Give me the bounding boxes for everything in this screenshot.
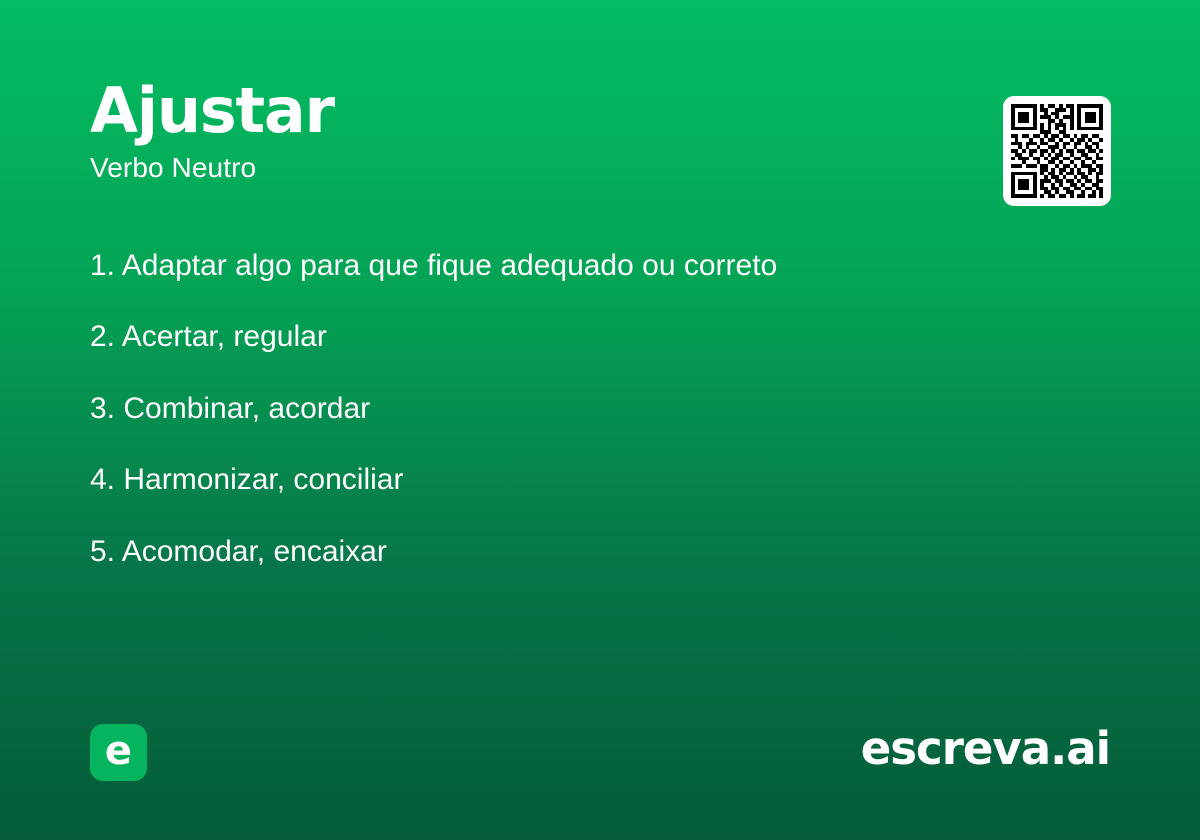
definition-item: 3. Combinar, acordar <box>90 391 1070 426</box>
definition-text: Harmonizar, conciliar <box>115 463 403 496</box>
word-class-label: Verbo Neutro <box>90 151 950 185</box>
definition-index: 5. <box>90 535 115 568</box>
definition-index: 2. <box>90 320 115 353</box>
dictionary-card: Ajustar Verbo Neutro 1. Adaptar algo par… <box>0 0 1200 840</box>
brand-logo-letter: e <box>105 731 132 771</box>
definition-item: 4. Harmonizar, conciliar <box>90 462 1070 497</box>
definition-text: Acertar, regular <box>115 320 327 353</box>
page-title: Ajustar <box>90 78 950 145</box>
definition-item: 5. Acomodar, encaixar <box>90 534 1070 569</box>
brand-wordmark: escreva.ai <box>861 722 1110 776</box>
definition-text: Adaptar algo para que fique adequado ou … <box>115 249 777 282</box>
definition-list: 1. Adaptar algo para que fique adequado … <box>90 248 1070 569</box>
definition-index: 4. <box>90 463 115 496</box>
qr-code-card[interactable] <box>1003 96 1111 206</box>
definition-item: 2. Acertar, regular <box>90 319 1070 354</box>
word-header: Ajustar Verbo Neutro <box>90 78 950 185</box>
definition-text: Combinar, acordar <box>115 392 370 425</box>
brand-logo-badge: e <box>90 724 147 781</box>
definition-index: 3. <box>90 392 115 425</box>
definition-item: 1. Adaptar algo para que fique adequado … <box>90 248 1070 283</box>
definition-index: 1. <box>90 249 115 282</box>
definition-text: Acomodar, encaixar <box>115 535 387 568</box>
qr-code-icon <box>1011 104 1103 198</box>
